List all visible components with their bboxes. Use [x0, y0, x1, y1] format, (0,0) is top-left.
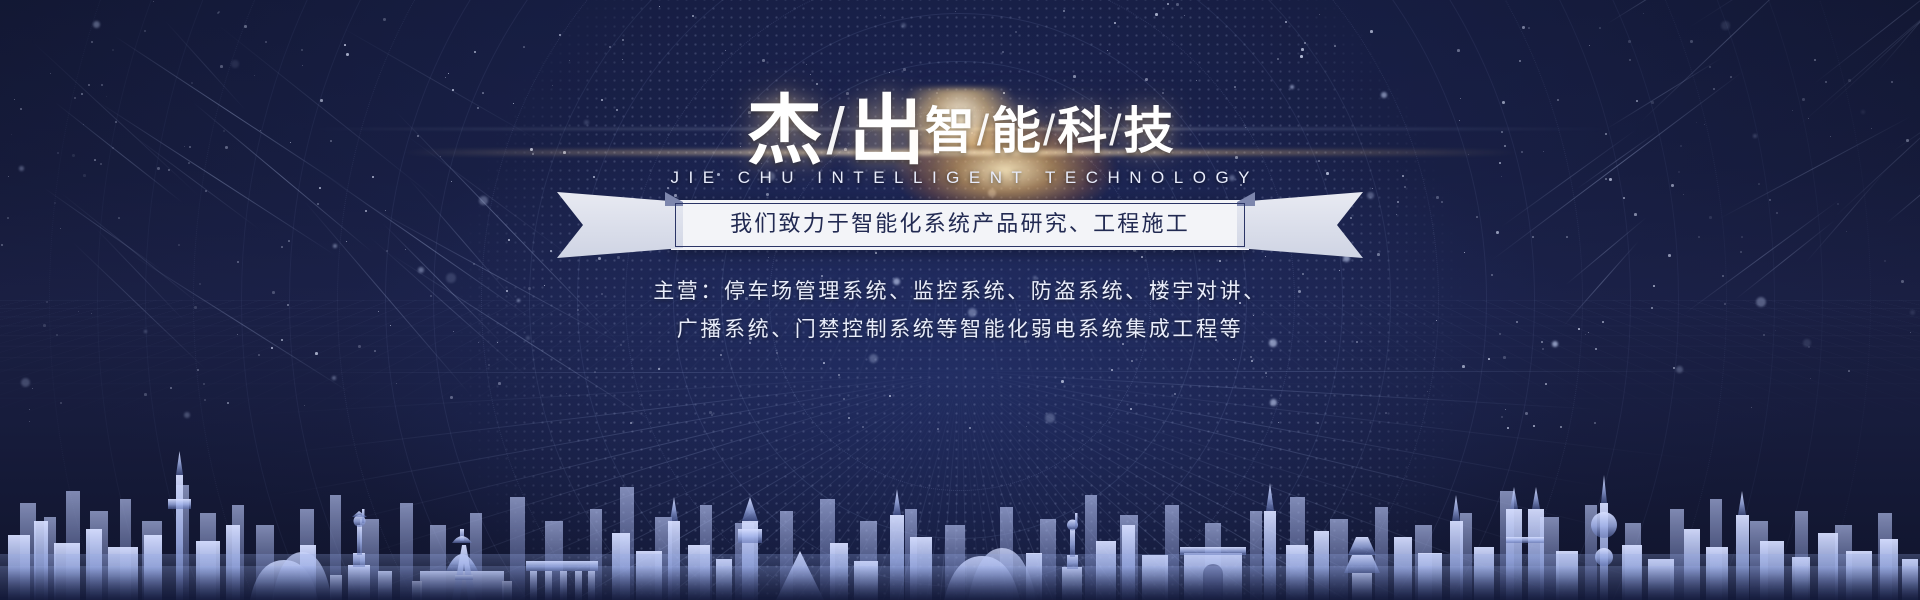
particle-dot: [473, 263, 475, 265]
particle-dot: [60, 402, 62, 404]
particle-dot: [1196, 80, 1197, 81]
particle-dot: [1385, 412, 1387, 414]
particle-dot: [725, 50, 726, 51]
title-char-3: 智: [925, 102, 975, 160]
particle-dot: [1730, 76, 1732, 78]
particle-dot: [445, 77, 446, 78]
particle-dot: [383, 18, 386, 21]
particle-dot: [709, 411, 712, 414]
particle-dot: [153, 1, 154, 2]
particle-dot: [955, 11, 956, 12]
page-subtitle-english: JIE CHU INTELLIGENT TECHNOLOGY: [0, 168, 1920, 188]
particle-dot: [1372, 188, 1373, 189]
particle-dot: [1427, 391, 1428, 392]
particle-dot: [88, 84, 90, 86]
particle-dot: [937, 428, 939, 430]
particle-dot: [204, 399, 206, 401]
particle-dot: [1370, 30, 1373, 33]
particle-dot: [1884, 260, 1886, 262]
dome-spoke: [960, 371, 1724, 372]
particle-dot: [1519, 60, 1521, 62]
particle-dot: [692, 15, 694, 17]
particle-dot: [1250, 356, 1252, 358]
particle-dot: [1848, 370, 1850, 372]
particle-dot: [823, 362, 825, 364]
particle-dot: [1045, 413, 1055, 423]
particle-dot: [848, 417, 850, 419]
particle-dot: [609, 46, 611, 48]
particle-dot: [1176, 3, 1179, 6]
particle-dot: [32, 388, 33, 389]
ribbon-tail-right: [1237, 192, 1363, 258]
particle-dot: [523, 46, 525, 48]
light-streak: [1915, 0, 1920, 100]
dome-spoke: [960, 371, 1607, 410]
particle-dot: [1891, 81, 1893, 83]
particle-dot: [21, 378, 30, 387]
particle-dot: [566, 393, 567, 394]
particle-dot: [332, 376, 336, 380]
ribbon-tail-right-band: [1237, 192, 1363, 258]
particle-dot: [220, 65, 223, 68]
ribbon-body: 我们致力于智能化系统产品研究、工程施工: [671, 200, 1249, 250]
services-line-1: 主营：停车场管理系统、监控系统、防盗系统、楼宇对讲、: [0, 272, 1920, 310]
particle-dot: [101, 84, 103, 86]
ground-plane: [0, 566, 1920, 600]
particle-dot: [1676, 366, 1683, 373]
particle-dot: [1528, 27, 1530, 29]
particle-dot: [231, 60, 239, 68]
dome-spoke: [282, 372, 960, 454]
particle-dot: [1301, 48, 1304, 51]
particle-dot: [1155, 13, 1158, 16]
title-char-5: 科: [1057, 102, 1107, 160]
particle-dot: [1130, 408, 1132, 410]
particle-dot: [1434, 357, 1435, 358]
particle-dot: [720, 354, 722, 356]
particle-dot: [1317, 422, 1319, 424]
particle-dot: [768, 257, 769, 258]
particle-dot: [1848, 79, 1851, 82]
dome-spoke: [324, 372, 960, 527]
dome-spoke: [245, 372, 960, 415]
particle-dot: [1542, 348, 1544, 350]
particle-dot: [1545, 383, 1547, 385]
particle-dot: [1063, 10, 1065, 12]
particle-dot: [488, 364, 490, 366]
particle-dot: [191, 82, 193, 84]
light-streak: [1606, 0, 1694, 25]
ribbon-tail-left-band: [557, 192, 683, 258]
particle-dot: [1751, 407, 1752, 408]
ribbon-slogan-text: 我们致力于智能化系统产品研究、工程施工: [671, 200, 1249, 250]
particle-dot: [622, 59, 623, 60]
particle-dot: [1436, 196, 1439, 199]
particle-dot: [498, 382, 501, 385]
title-char-6: 技: [1124, 102, 1174, 160]
particle-dot: [1628, 40, 1631, 43]
particle-dot: [1594, 422, 1596, 424]
page-title: 杰/出智/能/科/技: [0, 88, 1920, 174]
particle-dot: [1721, 21, 1730, 30]
particle-dot: [552, 85, 553, 86]
particle-dot: [630, 422, 632, 424]
particle-dot: [237, 261, 239, 263]
particle-dot: [889, 72, 890, 73]
particle-dot: [762, 59, 765, 62]
particle-dot: [1814, 59, 1816, 61]
particle-dot: [843, 398, 845, 400]
particle-dot: [659, 6, 660, 7]
title-separator-2: /: [977, 106, 989, 155]
particle-dot: [258, 354, 260, 356]
particle-dot: [1673, 367, 1675, 369]
particle-dot: [1589, 45, 1590, 46]
particle-dot: [1015, 31, 1017, 33]
particle-dot: [1131, 360, 1133, 362]
particle-dot: [93, 21, 100, 28]
particle-dot: [301, 49, 303, 51]
particle-dot: [218, 11, 220, 13]
particle-dot: [1073, 75, 1076, 78]
particle-dot: [1709, 66, 1711, 68]
particle-dot: [450, 396, 453, 399]
particle-dot: [448, 73, 449, 74]
particle-dot: [203, 383, 205, 385]
particle-dot: [1457, 49, 1460, 52]
particle-dot: [1501, 416, 1503, 418]
particle-dot: [658, 368, 660, 370]
particle-dot: [1184, 15, 1185, 16]
particle-dot: [1219, 260, 1221, 262]
particle-dot: [1690, 40, 1693, 43]
particle-dot: [29, 409, 30, 410]
particle-dot: [622, 39, 624, 41]
particle-dot: [304, 405, 305, 406]
title-char-1: 杰: [746, 86, 822, 175]
particle-dot: [1145, 78, 1148, 81]
dome-spoke: [274, 372, 960, 496]
particle-dot: [1599, 27, 1601, 29]
particle-dot: [144, 30, 146, 32]
particle-dot: [1114, 22, 1116, 24]
particle-dot: [1488, 358, 1490, 360]
services-description: 主营：停车场管理系统、监控系统、防盗系统、楼宇对讲、 广播系统、门禁控制系统等智…: [0, 272, 1920, 348]
particle-dot: [1002, 51, 1004, 53]
particle-dot: [1623, 197, 1625, 199]
title-char-2: 出: [849, 86, 925, 175]
particle-dot: [1265, 372, 1267, 374]
particle-dot: [1167, 3, 1169, 5]
particle-dot: [776, 352, 778, 354]
particle-dot: [1825, 81, 1827, 83]
particle-dot: [1643, 13, 1644, 14]
particle-dot: [594, 371, 596, 373]
particle-dot: [170, 387, 172, 389]
particle-dot: [184, 412, 190, 418]
particle-dot: [1525, 412, 1528, 415]
particle-dot: [903, 68, 906, 71]
particle-dot: [869, 354, 878, 363]
particle-dot: [1141, 256, 1143, 258]
particle-dot: [1174, 393, 1176, 395]
particle-dot: [265, 41, 267, 43]
particle-dot: [91, 41, 93, 43]
title-separator-4: /: [1109, 106, 1121, 155]
dome-spoke: [301, 372, 960, 373]
particle-dot: [1277, 58, 1279, 60]
particle-dot: [1507, 427, 1509, 429]
particle-dot: [144, 393, 147, 396]
dome-spoke: [960, 371, 1705, 461]
particle-dot: [766, 193, 769, 196]
particle-dot: [1595, 348, 1597, 350]
title-separator-1: /: [826, 94, 844, 168]
particle-dot: [1300, 55, 1303, 58]
particle-dot: [217, 12, 219, 14]
particle-dot: [1462, 365, 1465, 368]
particle-dot: [1278, 422, 1279, 423]
particle-dot: [344, 44, 346, 46]
particle-dot: [1810, 378, 1811, 379]
particle-dot: [1107, 50, 1108, 51]
particle-dot: [346, 53, 349, 56]
light-streak: [1686, 0, 1842, 30]
services-line-2: 广播系统、门禁控制系统等智能化弱电系统集成工程等: [0, 310, 1920, 348]
particle-dot: [889, 395, 891, 397]
particle-dot: [254, 75, 255, 76]
light-streak: [1904, 0, 1920, 32]
particle-dot: [112, 49, 114, 51]
particle-dot: [838, 374, 840, 376]
dome-spoke: [346, 372, 960, 560]
particle-dot: [880, 15, 881, 16]
particle-dot: [1233, 359, 1234, 360]
particle-dot: [1334, 45, 1336, 47]
particle-dot: [1683, 194, 1684, 195]
particle-dot: [1503, 356, 1506, 359]
particle-dot: [244, 25, 247, 28]
particle-dot: [988, 189, 996, 197]
particle-dot: [1251, 360, 1253, 362]
particle-dot: [1533, 425, 1535, 427]
particle-dot: [969, 427, 971, 429]
particle-dot: [205, 190, 207, 192]
hero-banner: 杰/出智/能/科/技 JIE CHU INTELLIGENT TECHNOLOG…: [0, 0, 1920, 600]
particle-dot: [1061, 380, 1064, 383]
particle-dot: [569, 60, 570, 61]
particle-dot: [1319, 14, 1320, 15]
particle-dot: [197, 369, 199, 371]
particle-dot: [1270, 399, 1277, 406]
particle-dot: [1505, 409, 1506, 410]
particle-dot: [302, 65, 303, 66]
ribbon-tail-left: [557, 192, 683, 258]
particle-dot: [50, 73, 51, 74]
particle-dot: [474, 51, 476, 53]
particle-dot: [1367, 192, 1374, 199]
slogan-ribbon: 我们致力于智能化系统产品研究、工程施工: [0, 200, 1920, 256]
particle-dot: [559, 34, 561, 36]
particle-dot: [1560, 426, 1562, 428]
title-separator-3: /: [1043, 106, 1055, 155]
particle-dot: [901, 23, 906, 28]
particle-dot: [1629, 59, 1631, 61]
title-char-4: 能: [991, 102, 1041, 160]
particle-dot: [1522, 26, 1525, 29]
particle-dot: [315, 352, 318, 355]
particle-dot: [711, 414, 713, 416]
particle-dot: [29, 421, 30, 422]
dome-spoke: [960, 371, 1600, 487]
particle-dot: [1026, 426, 1027, 427]
particle-dot: [396, 383, 397, 384]
particle-dot: [1266, 376, 1267, 377]
particle-dot: [1304, 42, 1306, 44]
particle-dot: [862, 426, 864, 428]
particle-dot: [1285, 21, 1287, 23]
particle-dot: [1140, 349, 1142, 351]
particle-dot: [810, 74, 811, 75]
particle-dot: [374, 350, 376, 352]
light-streak: [1812, 0, 1920, 86]
dome-spoke: [960, 371, 1627, 533]
particle-dot: [806, 64, 807, 65]
particle-dot: [1180, 188, 1181, 189]
particle-dot: [227, 402, 229, 404]
particle-dot: [1111, 369, 1113, 371]
light-streak: [1875, 0, 1920, 75]
